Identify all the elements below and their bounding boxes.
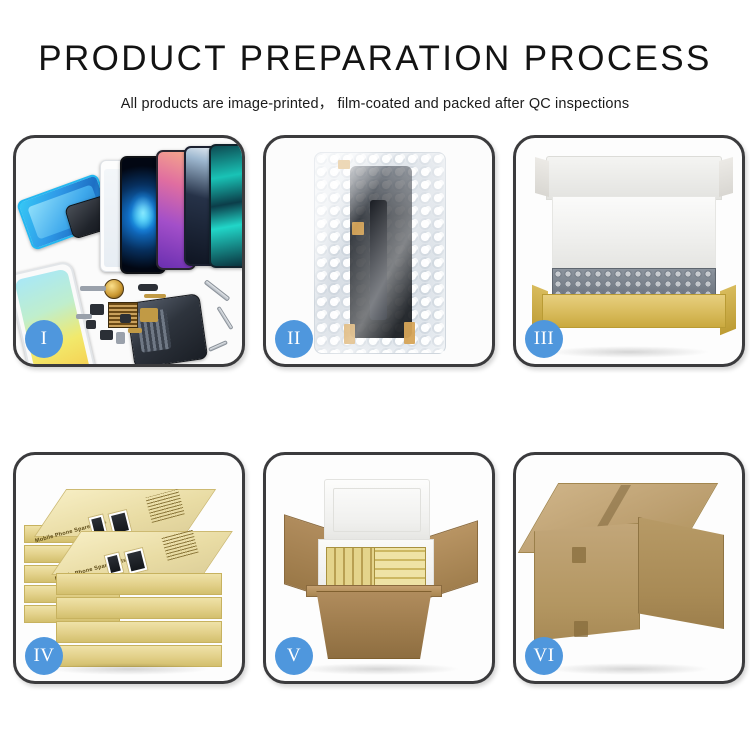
carton-tape-lower bbox=[574, 621, 588, 637]
metal-bracket bbox=[76, 314, 92, 319]
tape-bottom-left bbox=[344, 324, 355, 344]
tape-top bbox=[338, 160, 350, 169]
foam-sheet bbox=[552, 196, 716, 272]
box-edge-front-1 bbox=[56, 573, 222, 595]
step-card-1[interactable]: I bbox=[13, 135, 245, 367]
step-badge-1: I bbox=[25, 320, 63, 358]
process-step-grid: I II III bbox=[13, 135, 745, 684]
step-badge-6: VI bbox=[525, 637, 563, 675]
box-shadow bbox=[548, 346, 711, 358]
sealed-carton-shadow bbox=[548, 663, 711, 675]
foam-lid-open bbox=[546, 156, 722, 200]
wrapped-flex-cable bbox=[370, 200, 387, 320]
step-card-4[interactable]: Mobile Phone Spare Parts Mobile Phone Sp… bbox=[13, 452, 245, 684]
taptic-engine bbox=[120, 314, 131, 323]
flex-cable-gold bbox=[144, 294, 166, 298]
carton-front-face bbox=[310, 591, 438, 659]
step-badge-2: II bbox=[275, 320, 313, 358]
connector-gold bbox=[140, 308, 158, 322]
step-card-5[interactable]: V bbox=[263, 452, 495, 684]
ribbon-cable bbox=[128, 328, 142, 333]
box-edge-front-2 bbox=[56, 597, 222, 619]
stack-shadow bbox=[48, 663, 211, 675]
carton-shadow bbox=[298, 663, 461, 675]
step-card-2[interactable]: II bbox=[263, 135, 495, 367]
step-badge-3: III bbox=[525, 320, 563, 358]
page-header: PRODUCT PREPARATION PROCESS All products… bbox=[0, 0, 750, 113]
tweezers-tool bbox=[204, 279, 231, 301]
kraft-boxes-inside-row2 bbox=[374, 547, 426, 587]
kraft-box-front bbox=[542, 294, 726, 328]
tape-middle bbox=[352, 222, 364, 235]
screwdriver-tool bbox=[216, 306, 233, 330]
carton-right-face bbox=[638, 517, 724, 629]
wireless-charging-coil bbox=[104, 279, 124, 299]
step-card-6[interactable]: VI bbox=[513, 452, 745, 684]
carton-tape-upper bbox=[572, 547, 586, 563]
step-card-3[interactable]: III bbox=[513, 135, 745, 367]
foam-box-lid bbox=[324, 479, 430, 541]
page-title: PRODUCT PREPARATION PROCESS bbox=[0, 40, 750, 79]
pry-tool bbox=[208, 340, 228, 352]
vibrator-motor bbox=[86, 320, 96, 329]
sim-tray bbox=[100, 330, 113, 340]
battery-connector bbox=[116, 332, 125, 344]
page-subtitle: All products are image-printed， film-coa… bbox=[0, 92, 750, 113]
box-edge-front-3 bbox=[56, 621, 222, 643]
antenna-strip bbox=[80, 286, 106, 291]
phone-screen-teal bbox=[209, 144, 242, 268]
step-badge-4: IV bbox=[25, 637, 63, 675]
speaker-module bbox=[138, 284, 158, 291]
grey-bubble-wrap-layer bbox=[552, 268, 716, 296]
camera-module bbox=[90, 304, 104, 315]
step-badge-5: V bbox=[275, 637, 313, 675]
tape-bottom-right bbox=[404, 322, 415, 344]
